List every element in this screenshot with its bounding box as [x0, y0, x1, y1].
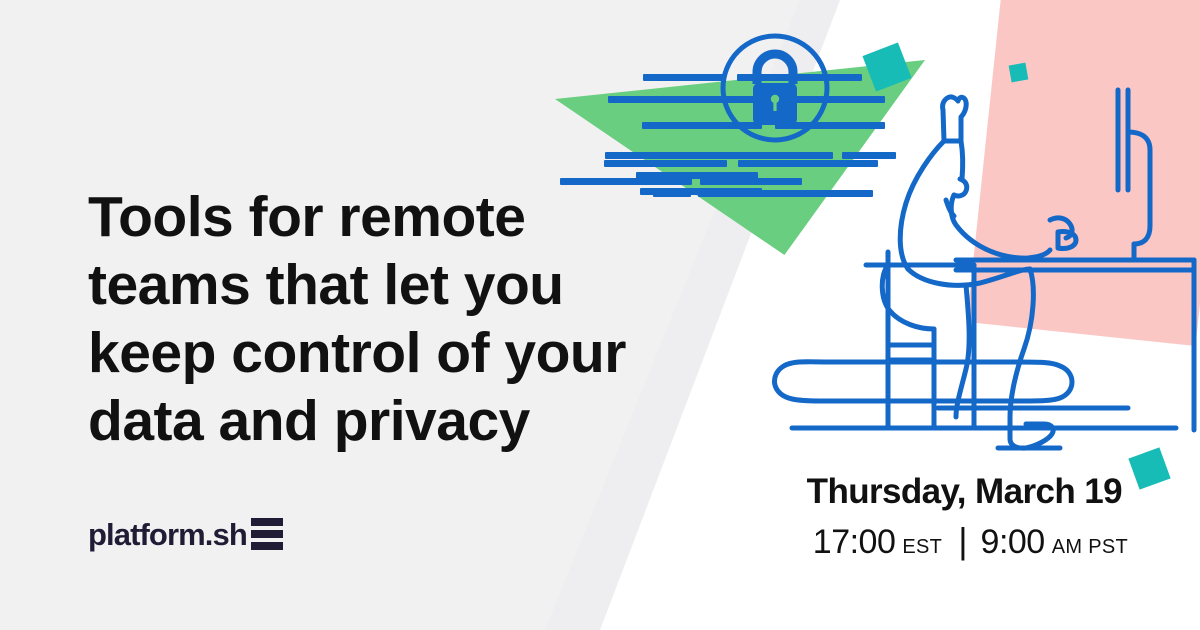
timezone-primary: EST [902, 536, 942, 559]
event-promo-banner: Tools for remote teams that let you keep… [0, 0, 1200, 630]
logo-wordmark: platform.sh [88, 519, 247, 550]
platform-sh-logo[interactable]: platform.sh [88, 518, 283, 551]
event-date: Thursday, March 19 [799, 470, 1128, 515]
time-separator: | [958, 520, 967, 562]
time-secondary: 9:00 [981, 523, 1045, 562]
headline-line-4: data and privacy [88, 387, 728, 455]
headline-line-1: Tools for remote [88, 183, 728, 251]
event-times: 17:00 EST | 9:00 AM PST [799, 520, 1128, 562]
timezone-secondary: AM PST [1052, 536, 1128, 559]
headline-line-2: teams that let you [88, 251, 728, 319]
person-at-desk-illustration [770, 60, 1200, 480]
three-bars-mark-icon [251, 518, 283, 550]
headline: Tools for remote teams that let you keep… [88, 183, 728, 455]
headline-line-3: keep control of your [88, 319, 728, 387]
time-primary: 17:00 [813, 523, 896, 562]
teal-square-small [1009, 63, 1029, 83]
event-datetime: Thursday, March 19 17:00 EST | 9:00 AM P… [799, 470, 1128, 562]
